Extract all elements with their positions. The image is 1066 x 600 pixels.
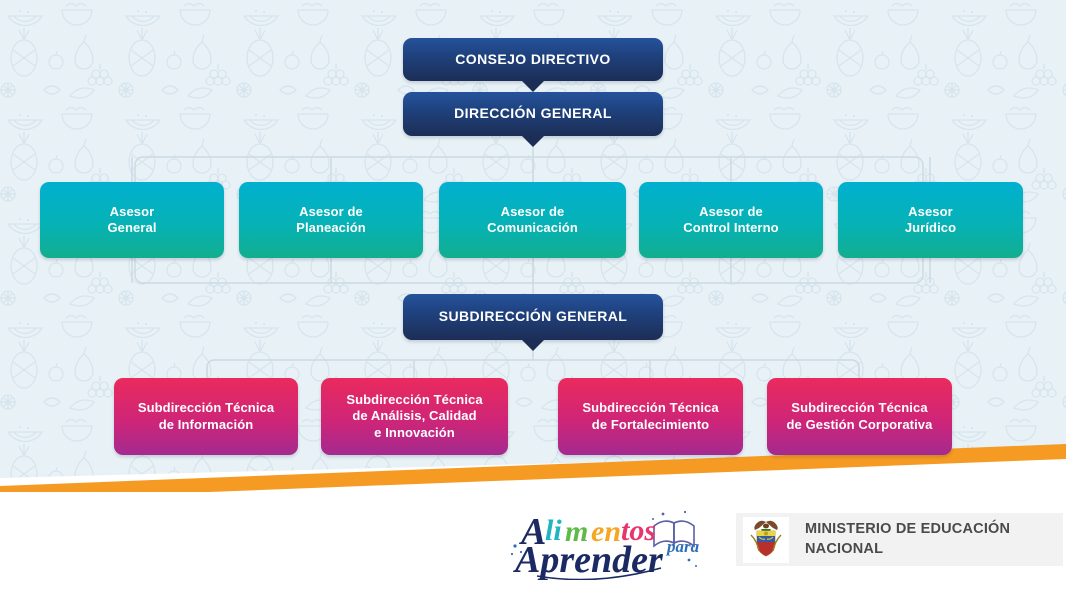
node-label-line1: Asesor de (501, 204, 565, 219)
pointer-arrow-icon (521, 80, 545, 92)
node-label: Subdirección Técnica de Análisis, Calida… (338, 392, 490, 441)
node-label-line2: de Análisis, Calidad (352, 408, 476, 423)
node-label: DIRECCIÓN GENERAL (446, 105, 620, 123)
node-label: Asesor de Planeación (288, 204, 374, 237)
node-label-line1: Subdirección Técnica (346, 392, 482, 407)
node-label: Subdirección Técnica de Fortalecimiento (574, 400, 726, 433)
node-label-line2: de Información (159, 417, 254, 432)
node-subdireccion-tecnica-informacion[interactable]: Subdirección Técnica de Información (114, 378, 298, 455)
node-consejo-directivo[interactable]: CONSEJO DIRECTIVO (403, 38, 663, 81)
node-label: Asesor General (99, 204, 164, 237)
node-asesor-planeacion[interactable]: Asesor de Planeación (239, 182, 423, 258)
node-asesor-comunicacion[interactable]: Asesor de Comunicación (439, 182, 626, 258)
colombia-coat-of-arms-icon (743, 517, 789, 563)
node-label-line1: Asesor de (699, 204, 763, 219)
node-label: Asesor de Comunicación (479, 204, 586, 237)
node-subdireccion-tecnica-analisis[interactable]: Subdirección Técnica de Análisis, Calida… (321, 378, 508, 455)
node-label-line1: Subdirección Técnica (582, 400, 718, 415)
logo-word-para: para (665, 537, 700, 556)
node-label-line1: Subdirección Técnica (138, 400, 274, 415)
node-label: CONSEJO DIRECTIVO (447, 51, 618, 69)
node-asesor-control-interno[interactable]: Asesor de Control Interno (639, 182, 823, 258)
node-label: Asesor de Control Interno (675, 204, 786, 237)
node-label-line2: de Fortalecimiento (592, 417, 709, 432)
node-label-line1: Subdirección Técnica (791, 400, 927, 415)
node-label-line2: Jurídico (905, 220, 956, 235)
node-label: Subdirección Técnica de Información (130, 400, 282, 433)
ministry-name-line2: NACIONAL (805, 540, 1010, 559)
node-label-line2: Comunicación (487, 220, 578, 235)
node-label-line1: Asesor (908, 204, 953, 219)
ministry-name: MINISTERIO DE EDUCACIÓN NACIONAL (805, 520, 1010, 558)
ministry-logo-block: MINISTERIO DE EDUCACIÓN NACIONAL (736, 513, 1063, 566)
node-label-line2: de Gestión Corporativa (787, 417, 933, 432)
org-chart-slide: CONSEJO DIRECTIVO DIRECCIÓN GENERAL Ases… (0, 0, 1066, 600)
node-subdireccion-tecnica-gestion-corporativa[interactable]: Subdirección Técnica de Gestión Corporat… (767, 378, 952, 455)
node-label: Asesor Jurídico (897, 204, 964, 237)
node-label: Subdirección Técnica de Gestión Corporat… (779, 400, 941, 433)
node-direccion-general[interactable]: DIRECCIÓN GENERAL (403, 92, 663, 136)
node-label-line2: Planeación (296, 220, 366, 235)
pointer-arrow-icon (521, 339, 545, 351)
node-label-line1: Asesor de (299, 204, 363, 219)
node-label-line3: e Innovación (374, 425, 455, 440)
node-subdireccion-general[interactable]: SUBDIRECCIÓN GENERAL (403, 294, 663, 340)
node-asesor-general[interactable]: Asesor General (40, 182, 224, 258)
node-label-line1: Asesor (110, 204, 155, 219)
node-asesor-juridico[interactable]: Asesor Jurídico (838, 182, 1023, 258)
pointer-arrow-icon (521, 135, 545, 147)
alimentos-para-aprender-logo: A li m en tos para Aprender (503, 500, 718, 580)
logo-word-aprender: Aprender (513, 539, 664, 580)
node-subdireccion-tecnica-fortalecimiento[interactable]: Subdirección Técnica de Fortalecimiento (558, 378, 743, 455)
node-label: SUBDIRECCIÓN GENERAL (431, 308, 635, 326)
node-label-line2: General (107, 220, 156, 235)
ministry-name-line1: MINISTERIO DE EDUCACIÓN (805, 520, 1010, 539)
node-label-line2: Control Interno (683, 220, 778, 235)
